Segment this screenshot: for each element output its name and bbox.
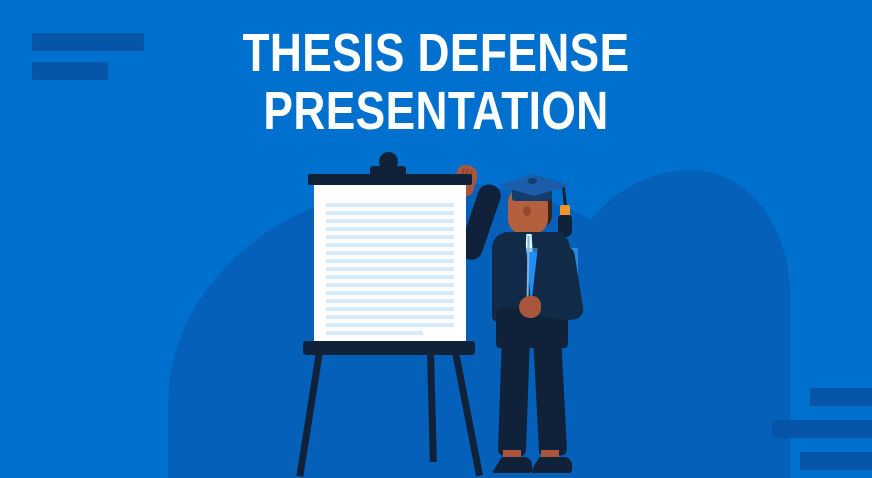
person-leg-right — [533, 329, 568, 456]
illustration-student-presenting — [0, 0, 872, 478]
person-leg-left — [498, 330, 530, 457]
slide-canvas: THESIS DEFENSE PRESENTATION — [0, 0, 872, 478]
easel-leg-right — [452, 351, 483, 476]
flipchart-text-lines — [326, 203, 454, 339]
flipchart-sheet — [314, 183, 466, 343]
person-lowered-hand — [519, 296, 541, 318]
easel-leg-middle — [427, 352, 437, 462]
person-ear — [523, 206, 531, 216]
easel-leg-left — [296, 351, 323, 477]
flipchart-bottom-bar — [303, 341, 475, 355]
person-shoe-right — [530, 457, 572, 473]
flipchart-knob — [379, 152, 398, 171]
graduation-cap-button — [528, 178, 537, 184]
person-shoe-left — [492, 457, 532, 473]
